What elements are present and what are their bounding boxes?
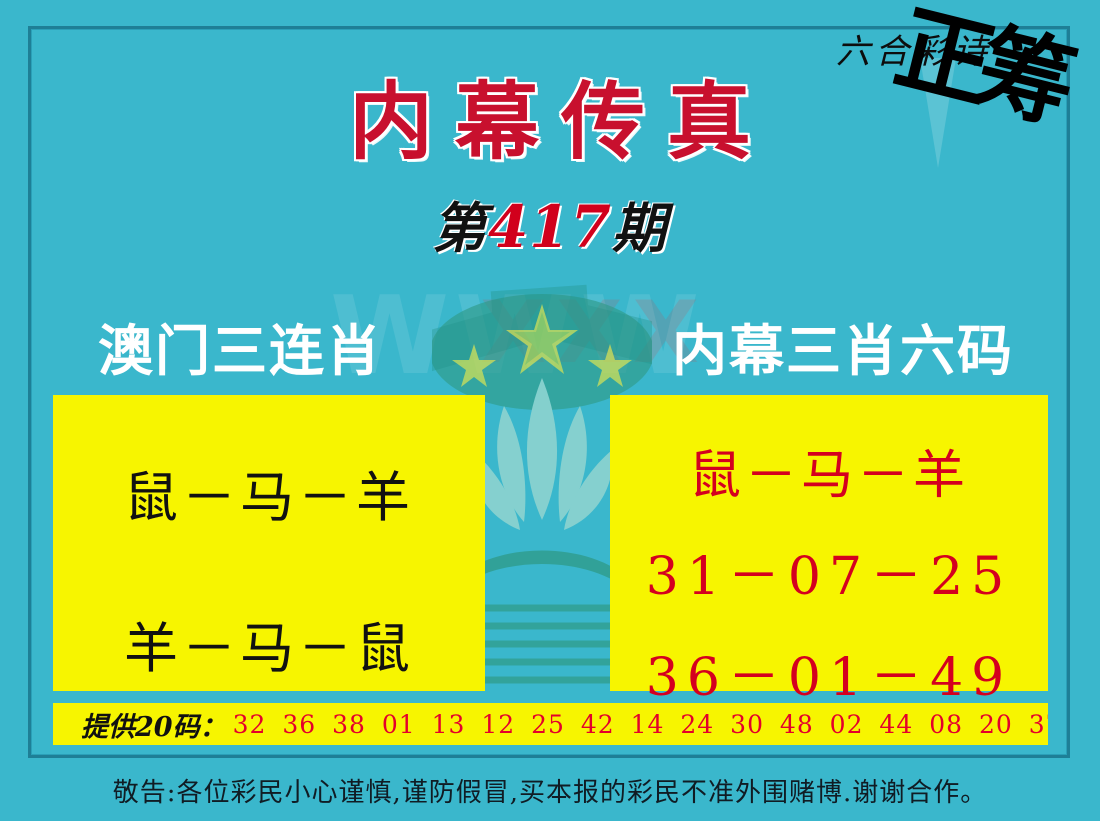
- prediction-box-left: 鼠－马－羊 羊－马－鼠: [53, 395, 485, 691]
- prediction-line: 31－07－25: [610, 534, 1048, 609]
- page-title: 内幕传真: [0, 74, 1100, 170]
- prediction-line: 鼠－马－羊: [53, 453, 485, 532]
- prediction-box-right: 鼠－马－羊 31－07－25 36－01－49: [610, 395, 1048, 691]
- section-heading-right: 内幕三肖六码: [672, 306, 1014, 386]
- prediction-line: 羊－马－鼠: [53, 604, 485, 683]
- numbers-strip-label: 提供20码：: [81, 705, 227, 744]
- prediction-line: 鼠－马－羊: [610, 433, 1048, 508]
- poster-root: WWW XXX: [0, 0, 1100, 821]
- issue-prefix: 第: [432, 196, 488, 260]
- issue-suffix: 期: [612, 196, 668, 260]
- issue-number: 417: [488, 193, 612, 261]
- footer-notice: 敬告:各位彩民小心谨慎,谨防假冒,买本报的彩民不准外围赌博.谢谢合作。: [0, 772, 1100, 809]
- issue-label: 第417期: [0, 184, 1100, 263]
- numbers-strip-values: 32 36 38 01 13 12 25 42 14 24 30 48 02 4…: [233, 710, 1048, 739]
- section-heading-left: 澳门三连肖: [98, 306, 383, 386]
- numbers-strip: 提供20码： 32 36 38 01 13 12 25 42 14 24 30 …: [53, 703, 1048, 745]
- prediction-line: 36－01－49: [610, 635, 1048, 710]
